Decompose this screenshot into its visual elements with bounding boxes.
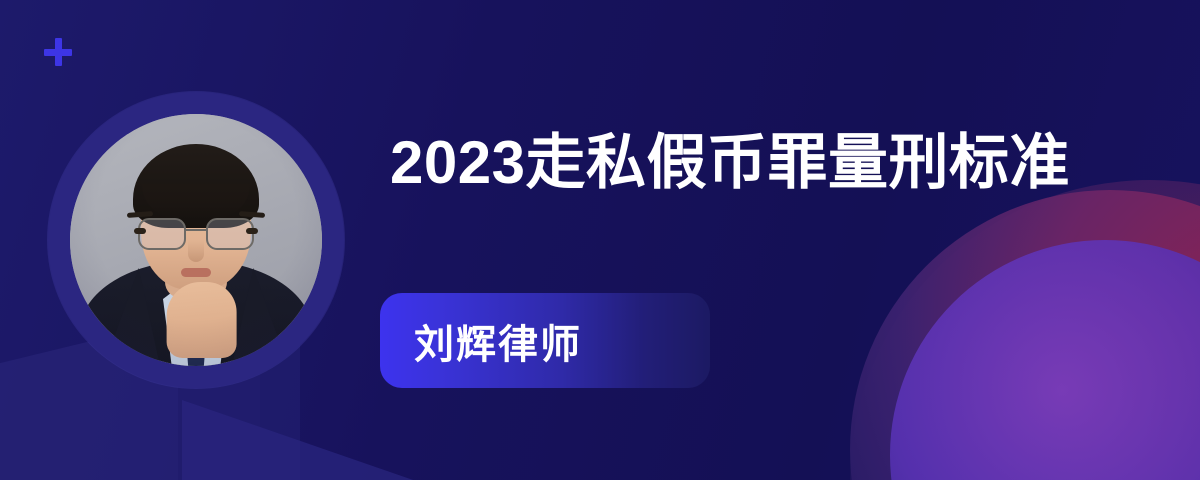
plus-icon-bar-vertical (55, 38, 62, 66)
avatar (70, 114, 322, 366)
plus-icon (44, 38, 72, 66)
avatar-ring (48, 92, 344, 388)
avatar-vignette (70, 114, 322, 366)
banner-canvas: 2023走私假币罪量刑标准 刘辉律师 (0, 0, 1200, 480)
lawyer-name-button[interactable]: 刘辉律师 (380, 293, 710, 388)
page-title: 2023走私假币罪量刑标准 (390, 128, 1070, 198)
